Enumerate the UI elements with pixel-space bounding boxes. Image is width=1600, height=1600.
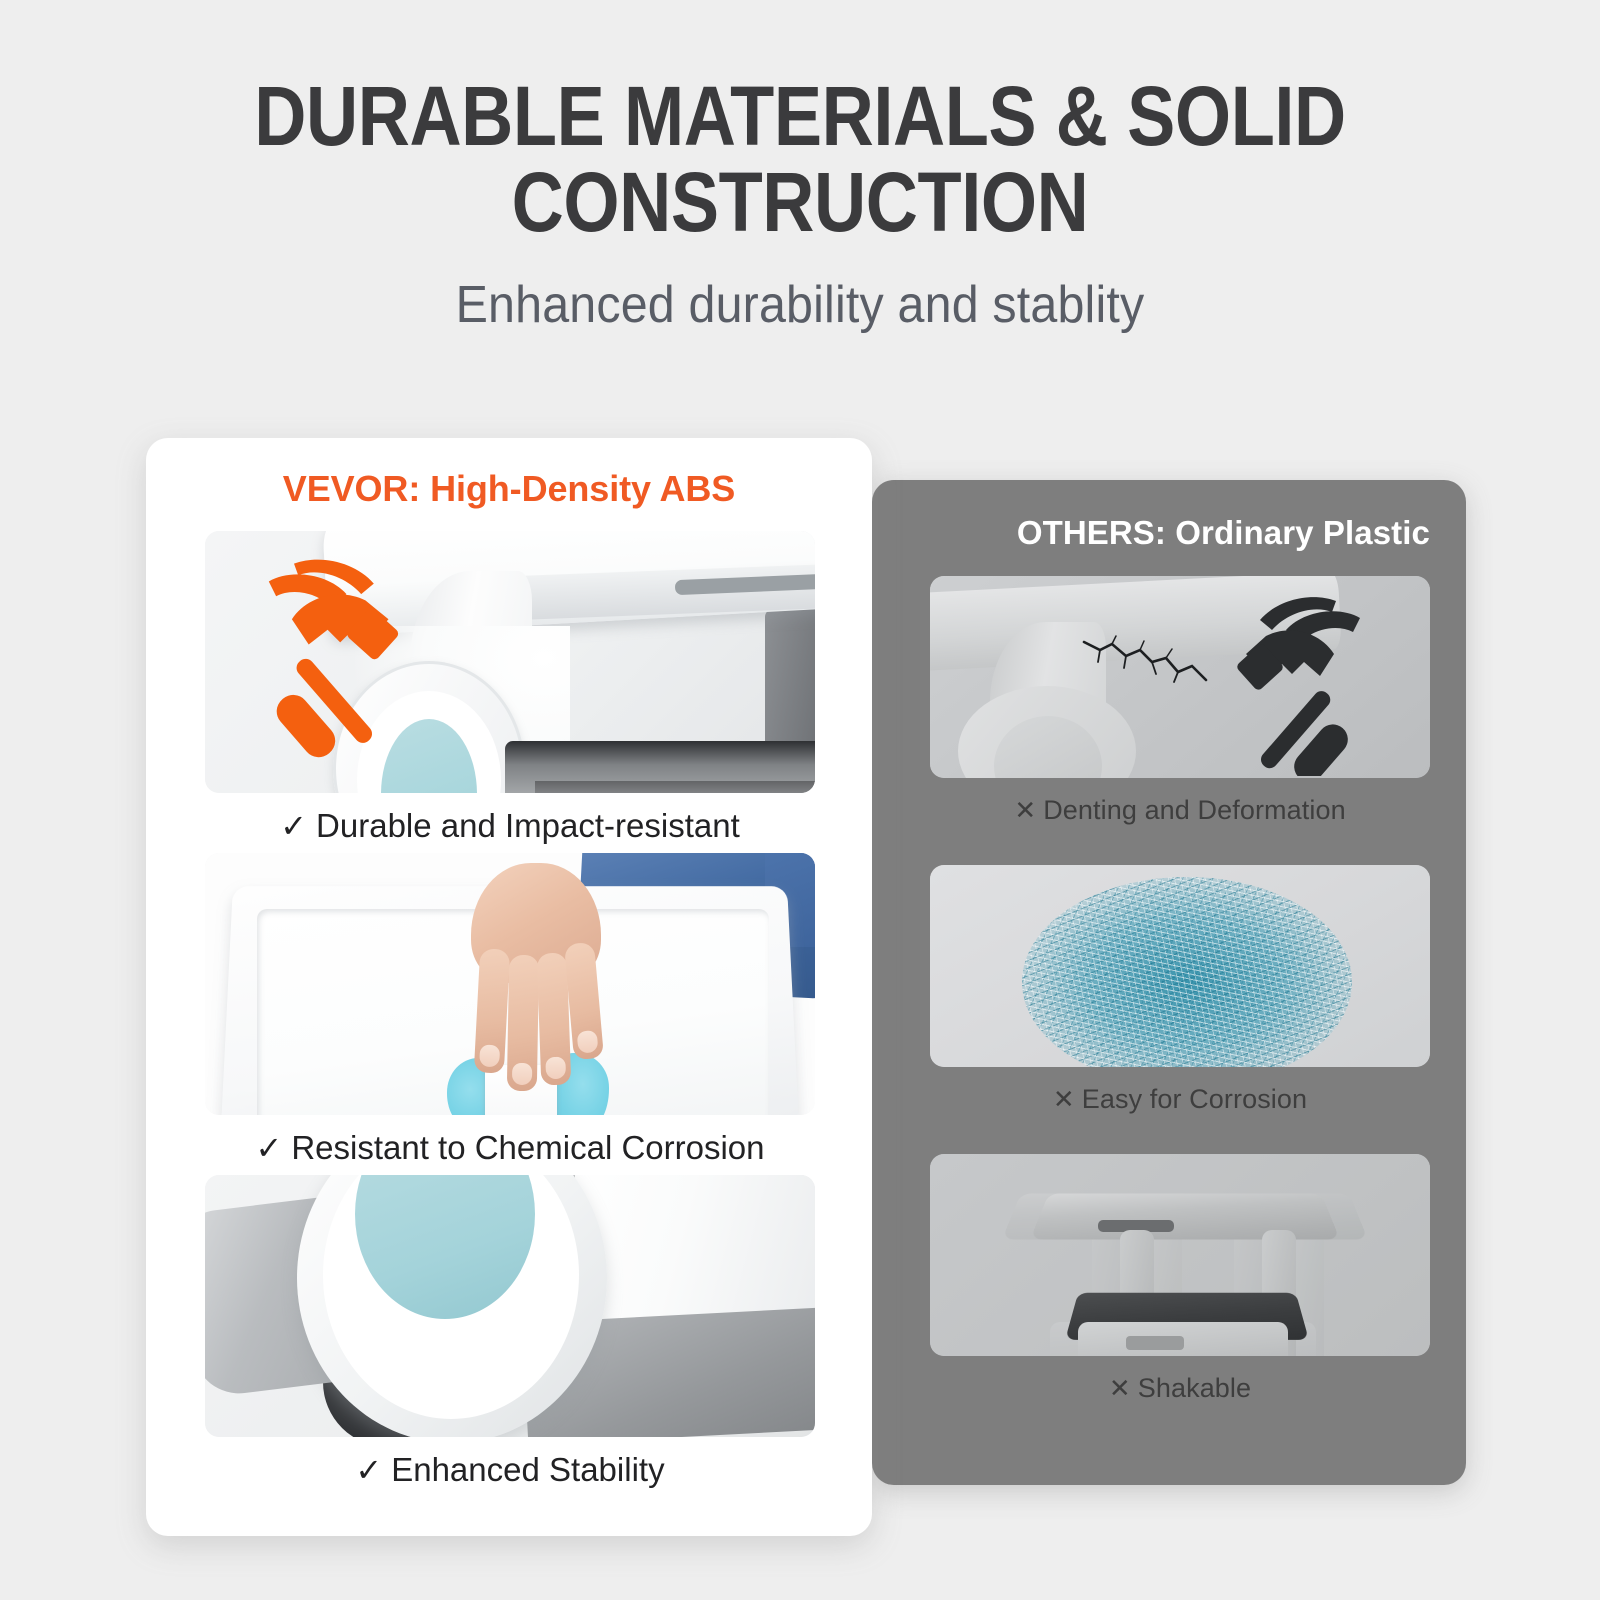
others-caption-denting: ✕Denting and Deformation	[930, 795, 1430, 826]
resistant-to-chemical-corrosion-image	[205, 853, 815, 1115]
check-mark-icon: ✓	[355, 1452, 382, 1488]
others-item-denting: ✕Denting and Deformation	[930, 576, 1430, 826]
vevor-caption-text: Durable and Impact-resistant	[316, 807, 740, 844]
vevor-caption-text: Enhanced Stability	[391, 1451, 664, 1488]
crack-lines-icon	[1082, 632, 1212, 695]
vevor-item-stability: ✓Enhanced Stability	[205, 1175, 815, 1489]
others-caption-text: Easy for Corrosion	[1082, 1084, 1307, 1114]
others-panel-title: OTHERS: Ordinary Plastic	[872, 480, 1466, 552]
corrosion-patch	[1022, 877, 1352, 1067]
vevor-item-chemical: ✓Resistant to Chemical Corrosion	[205, 853, 815, 1167]
denting-and-deformation-image	[930, 576, 1430, 778]
enhanced-stability-image	[205, 1175, 815, 1437]
others-item-shakable: ✕Shakable	[930, 1154, 1430, 1404]
comparison-area: OTHERS: Ordinary Plastic	[0, 0, 1600, 1600]
cross-mark-icon: ✕	[1109, 1373, 1131, 1403]
vevor-caption-impact: ✓Durable and Impact-resistant	[205, 807, 815, 845]
others-caption-text: Denting and Deformation	[1043, 795, 1345, 825]
cross-mark-icon: ✕	[1053, 1084, 1075, 1114]
vevor-panel: VEVOR: High-Density ABS	[146, 438, 872, 1536]
hammer-icon-orange	[231, 545, 441, 765]
others-caption-text: Shakable	[1138, 1373, 1251, 1403]
vevor-item-impact: ✓Durable and Impact-resistant	[205, 531, 815, 845]
vevor-caption-chemical: ✓Resistant to Chemical Corrosion	[205, 1129, 815, 1167]
shakable-cart-image	[930, 1154, 1430, 1356]
check-mark-icon: ✓	[256, 1130, 283, 1166]
vevor-caption-text: Resistant to Chemical Corrosion	[291, 1129, 764, 1166]
cross-mark-icon: ✕	[1014, 795, 1036, 825]
vevor-caption-stability: ✓Enhanced Stability	[205, 1451, 815, 1489]
check-mark-icon: ✓	[280, 808, 307, 844]
durable-impact-resistant-image	[205, 531, 815, 793]
easy-for-corrosion-image	[930, 865, 1430, 1067]
others-panel: OTHERS: Ordinary Plastic	[872, 480, 1466, 1485]
hand-image	[455, 863, 605, 1078]
others-item-corrosion: ✕Easy for Corrosion	[930, 865, 1430, 1115]
others-caption-corrosion: ✕Easy for Corrosion	[930, 1084, 1430, 1115]
hammer-icon-dark	[1196, 596, 1396, 776]
others-caption-shakable: ✕Shakable	[930, 1373, 1430, 1404]
vevor-panel-title: VEVOR: High-Density ABS	[146, 438, 872, 510]
